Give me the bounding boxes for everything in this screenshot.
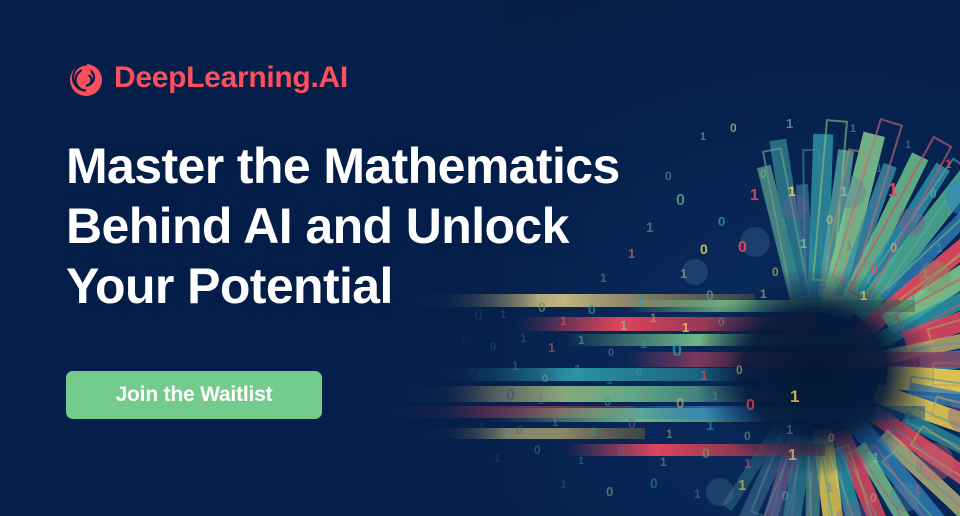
svg-text:0: 0 — [450, 446, 456, 458]
svg-text:1: 1 — [788, 183, 796, 199]
svg-text:1: 1 — [666, 427, 673, 441]
svg-text:1: 1 — [846, 239, 853, 253]
svg-text:0: 0 — [702, 445, 710, 461]
svg-text:0: 0 — [604, 394, 611, 409]
svg-text:1: 1 — [538, 395, 544, 407]
svg-text:1: 1 — [694, 487, 701, 501]
headline: Master the Mathematics Behind AI and Unl… — [66, 136, 620, 316]
svg-text:1: 1 — [706, 417, 714, 434]
svg-text:1: 1 — [905, 139, 911, 151]
svg-text:0: 0 — [744, 429, 751, 443]
svg-text:1: 1 — [700, 367, 708, 383]
svg-text:1: 1 — [636, 292, 644, 308]
svg-text:1: 1 — [512, 359, 519, 373]
svg-text:0: 0 — [870, 491, 877, 505]
svg-text:0: 0 — [700, 241, 708, 257]
svg-text:1: 1 — [945, 157, 952, 171]
svg-text:0: 0 — [826, 212, 833, 227]
svg-text:1: 1 — [628, 246, 635, 261]
svg-text:1: 1 — [786, 422, 793, 437]
svg-text:1: 1 — [478, 419, 484, 431]
svg-text:1: 1 — [876, 163, 882, 175]
svg-text:0: 0 — [718, 214, 725, 229]
brand-wordmark: DeepLearning.AI — [114, 63, 348, 93]
svg-text:0: 0 — [676, 192, 685, 209]
svg-text:1: 1 — [606, 373, 613, 387]
svg-text:0: 0 — [736, 363, 743, 377]
svg-text:1: 1 — [574, 362, 581, 377]
svg-text:1: 1 — [446, 359, 454, 375]
svg-text:0: 0 — [506, 387, 515, 404]
svg-text:1: 1 — [660, 455, 667, 469]
svg-text:1: 1 — [786, 116, 793, 131]
svg-text:1: 1 — [620, 318, 627, 333]
brand-logo[interactable]: DeepLearning.AI — [66, 58, 348, 98]
svg-text:1: 1 — [494, 453, 500, 465]
svg-text:0: 0 — [912, 211, 919, 225]
svg-text:1: 1 — [914, 482, 921, 497]
promo-banner: 1 0 1 1 1 1 0 0 1 0 1 1 1 1 0 1 0 1 0 1 — [0, 0, 960, 516]
svg-text:1: 1 — [560, 477, 567, 491]
svg-text:1: 1 — [780, 216, 787, 231]
svg-text:0: 0 — [672, 340, 682, 360]
svg-text:1: 1 — [700, 131, 706, 143]
svg-text:0: 0 — [746, 397, 755, 414]
svg-text:0: 0 — [828, 431, 835, 445]
svg-text:0: 0 — [830, 459, 837, 473]
svg-text:0: 0 — [676, 395, 684, 412]
headline-line-3: Your Potential — [66, 256, 620, 316]
svg-text:0: 0 — [542, 373, 548, 385]
svg-text:0: 0 — [760, 167, 767, 181]
svg-text:1: 1 — [936, 241, 943, 255]
svg-text:0: 0 — [665, 169, 672, 183]
svg-text:1: 1 — [680, 266, 687, 281]
svg-text:1: 1 — [578, 455, 584, 467]
svg-text:1: 1 — [860, 288, 867, 303]
svg-text:0: 0 — [890, 240, 897, 255]
svg-text:0: 0 — [478, 369, 484, 381]
svg-text:0: 0 — [606, 484, 613, 499]
headline-line-2: Behind AI and Unlock — [66, 196, 620, 256]
svg-text:1: 1 — [560, 314, 567, 328]
svg-text:1: 1 — [922, 267, 929, 281]
svg-text:0: 0 — [628, 415, 636, 431]
svg-text:1: 1 — [570, 385, 577, 399]
svg-text:1: 1 — [820, 261, 827, 275]
svg-text:0: 0 — [730, 121, 737, 135]
svg-text:0: 0 — [706, 287, 714, 303]
headline-line-1: Master the Mathematics — [66, 136, 620, 196]
svg-text:0: 0 — [534, 443, 541, 457]
svg-text:1: 1 — [578, 333, 585, 347]
svg-text:1: 1 — [788, 447, 797, 464]
svg-text:0: 0 — [516, 423, 523, 437]
svg-text:1: 1 — [738, 477, 746, 494]
svg-text:0: 0 — [930, 187, 937, 201]
svg-text:0: 0 — [772, 265, 779, 279]
svg-text:0: 0 — [636, 367, 642, 379]
svg-text:0: 0 — [618, 444, 625, 459]
svg-text:0: 0 — [870, 261, 878, 278]
svg-text:1: 1 — [826, 480, 833, 495]
svg-text:1: 1 — [640, 336, 647, 351]
svg-text:1: 1 — [888, 180, 898, 200]
svg-text:1: 1 — [646, 219, 654, 235]
svg-text:1: 1 — [650, 311, 657, 325]
svg-text:1: 1 — [840, 183, 848, 199]
svg-text:1: 1 — [850, 123, 856, 135]
svg-text:1: 1 — [744, 456, 751, 471]
deeplearning-ai-spiral-icon — [66, 58, 106, 98]
svg-text:1: 1 — [548, 340, 555, 355]
svg-text:1: 1 — [460, 334, 467, 348]
svg-text:0: 0 — [590, 425, 597, 439]
svg-text:1: 1 — [712, 389, 719, 403]
svg-text:0: 0 — [908, 291, 915, 305]
svg-text:1: 1 — [800, 236, 807, 251]
svg-text:0: 0 — [916, 461, 923, 475]
svg-text:1: 1 — [790, 387, 799, 406]
svg-text:1: 1 — [520, 331, 527, 345]
svg-text:0: 0 — [608, 347, 614, 359]
svg-text:1: 1 — [552, 417, 558, 429]
svg-text:1: 1 — [872, 450, 879, 465]
svg-text:1: 1 — [750, 187, 759, 204]
join-waitlist-button[interactable]: Join the Waitlist — [66, 371, 322, 419]
svg-text:1: 1 — [640, 387, 647, 401]
svg-text:0: 0 — [782, 489, 789, 503]
svg-text:0: 0 — [738, 239, 747, 256]
svg-text:0: 0 — [650, 475, 658, 491]
svg-text:1: 1 — [858, 209, 865, 223]
svg-text:0: 0 — [490, 341, 496, 353]
svg-text:0: 0 — [718, 315, 725, 329]
svg-text:1: 1 — [682, 320, 689, 335]
svg-text:1: 1 — [760, 287, 767, 301]
